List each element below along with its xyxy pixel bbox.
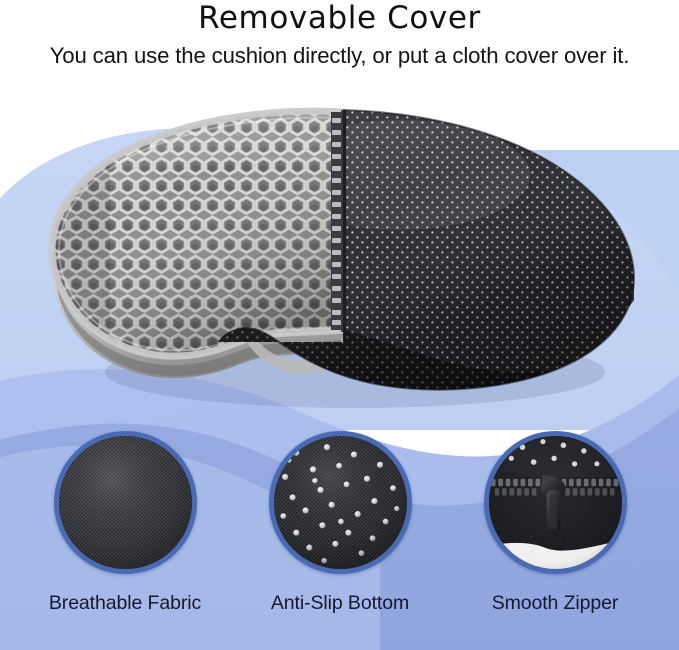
header-block: Removable Cover You can use the cushion … bbox=[0, 0, 679, 71]
feature-smooth-zipper[interactable]: Smooth Zipper bbox=[455, 420, 655, 615]
feature-label: Smooth Zipper bbox=[455, 591, 655, 615]
feature-label: Breathable Fabric bbox=[25, 591, 225, 615]
page-title: Removable Cover bbox=[0, 0, 679, 36]
breathable-fabric-swatch[interactable] bbox=[54, 431, 197, 574]
smooth-zipper-swatch[interactable] bbox=[484, 431, 627, 574]
product-feature-graphic: Removable Cover You can use the cushion … bbox=[0, 0, 679, 650]
feature-row: Breathable Fabric bbox=[0, 420, 679, 650]
zipper-icon bbox=[489, 436, 622, 569]
page-subtitle: You can use the cushion directly, or put… bbox=[5, 41, 674, 71]
woven-fabric-icon bbox=[59, 436, 192, 569]
feature-anti-slip-bottom[interactable]: Anti-Slip Bottom bbox=[240, 420, 440, 615]
feature-label: Anti-Slip Bottom bbox=[240, 591, 440, 615]
anti-slip-bottom-swatch[interactable] bbox=[269, 431, 412, 574]
dotted-grip-icon bbox=[274, 436, 407, 569]
gel-cushion-section bbox=[40, 100, 360, 378]
feature-breathable-fabric[interactable]: Breathable Fabric bbox=[25, 420, 225, 615]
cover-zipper-strip bbox=[331, 112, 343, 330]
